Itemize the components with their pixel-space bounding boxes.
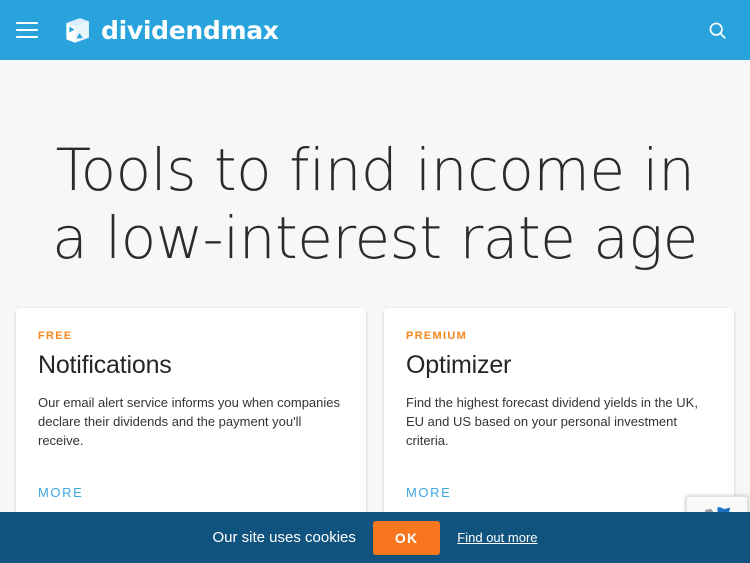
- dividendmax-cube-logo-icon: [62, 15, 93, 46]
- card-more-link[interactable]: MORE: [406, 485, 451, 500]
- search-button[interactable]: [700, 13, 734, 47]
- cookie-message: Our site uses cookies: [212, 529, 355, 546]
- feature-card-optimizer[interactable]: PREMIUM Optimizer Find the highest forec…: [384, 308, 734, 520]
- page-title: Tools to find income in a low-interest r…: [0, 136, 750, 272]
- site-header: dividendmax: [0, 0, 750, 60]
- card-spacer: [406, 450, 712, 485]
- card-spacer: [38, 450, 344, 485]
- hamburger-bar: [16, 29, 38, 31]
- card-more-link[interactable]: MORE: [38, 485, 83, 500]
- hamburger-menu-icon[interactable]: [16, 15, 46, 45]
- search-icon: [707, 20, 728, 41]
- card-tag-badge: PREMIUM: [406, 330, 712, 342]
- card-tag-badge: FREE: [38, 330, 344, 342]
- feature-cards: FREE Notifications Our email alert servi…: [0, 272, 750, 520]
- site-logo[interactable]: dividendmax: [62, 15, 279, 46]
- card-title: Notifications: [38, 351, 344, 380]
- cookie-find-out-more-link[interactable]: Find out more: [457, 530, 537, 545]
- hero-section: Tools to find income in a low-interest r…: [0, 60, 750, 272]
- cookie-accept-button[interactable]: OK: [373, 521, 440, 555]
- card-title: Optimizer: [406, 351, 712, 380]
- card-description: Our email alert service informs you when…: [38, 393, 344, 450]
- feature-card-notifications[interactable]: FREE Notifications Our email alert servi…: [16, 308, 366, 520]
- hamburger-bar: [16, 22, 38, 24]
- card-description: Find the highest forecast dividend yield…: [406, 393, 712, 450]
- cookie-consent-bar: Our site uses cookies OK Find out more: [0, 512, 750, 563]
- logo-wordmark: dividendmax: [101, 18, 279, 43]
- hamburger-bar: [16, 36, 38, 38]
